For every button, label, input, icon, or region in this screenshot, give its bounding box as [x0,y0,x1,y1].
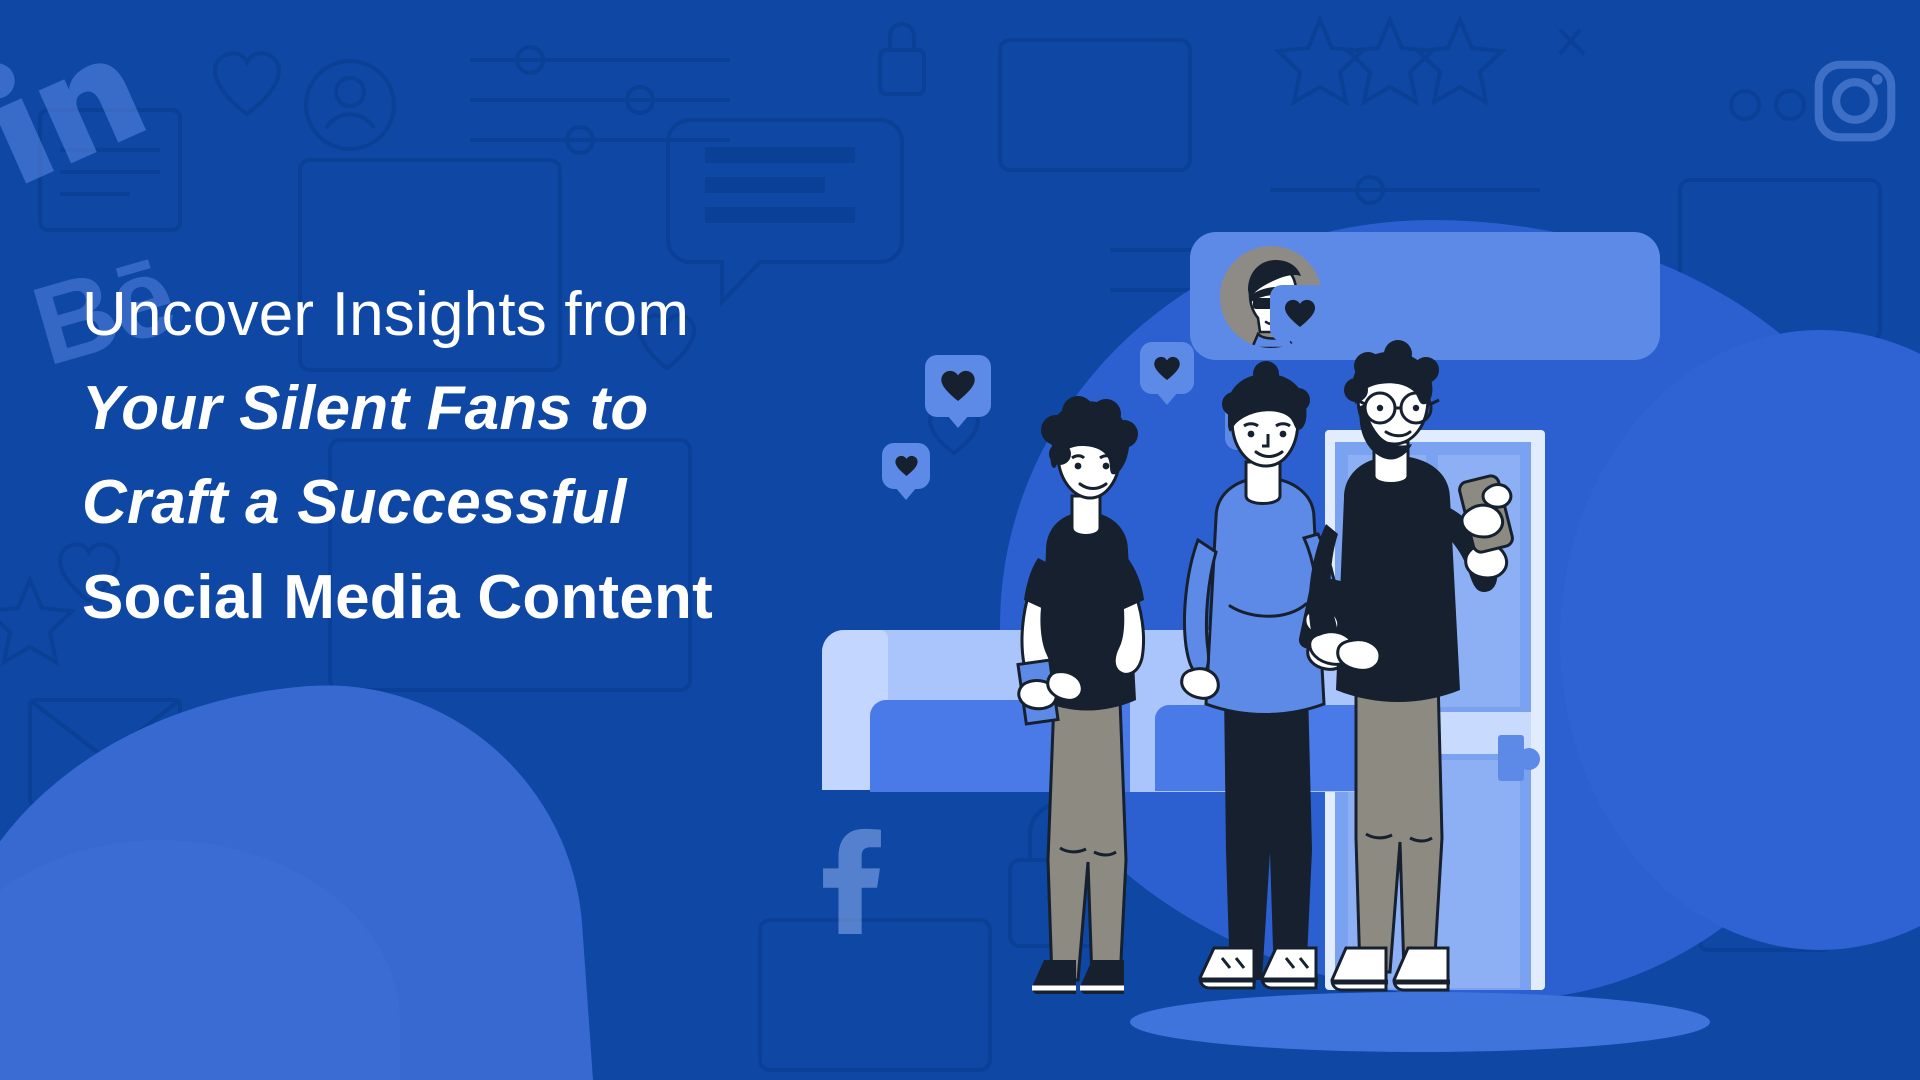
headline-line-3: Craft a Successful [82,456,1102,550]
headline-line-1: Uncover Insights from [82,268,1102,362]
heart-bubble-icon [1270,285,1330,341]
headline-line-2: Your Silent Fans to [82,362,1102,456]
facebook-icon [812,826,892,934]
headline: Uncover Insights from Your Silent Fans t… [82,268,1102,645]
social-media-banner: Bē Uncover Insights from Your Silent Fan… [0,0,1920,1080]
headline-line-4: Social Media Content [82,551,1102,645]
illustration [980,0,1920,1080]
person-man-glasses-beard [1270,348,1530,1028]
